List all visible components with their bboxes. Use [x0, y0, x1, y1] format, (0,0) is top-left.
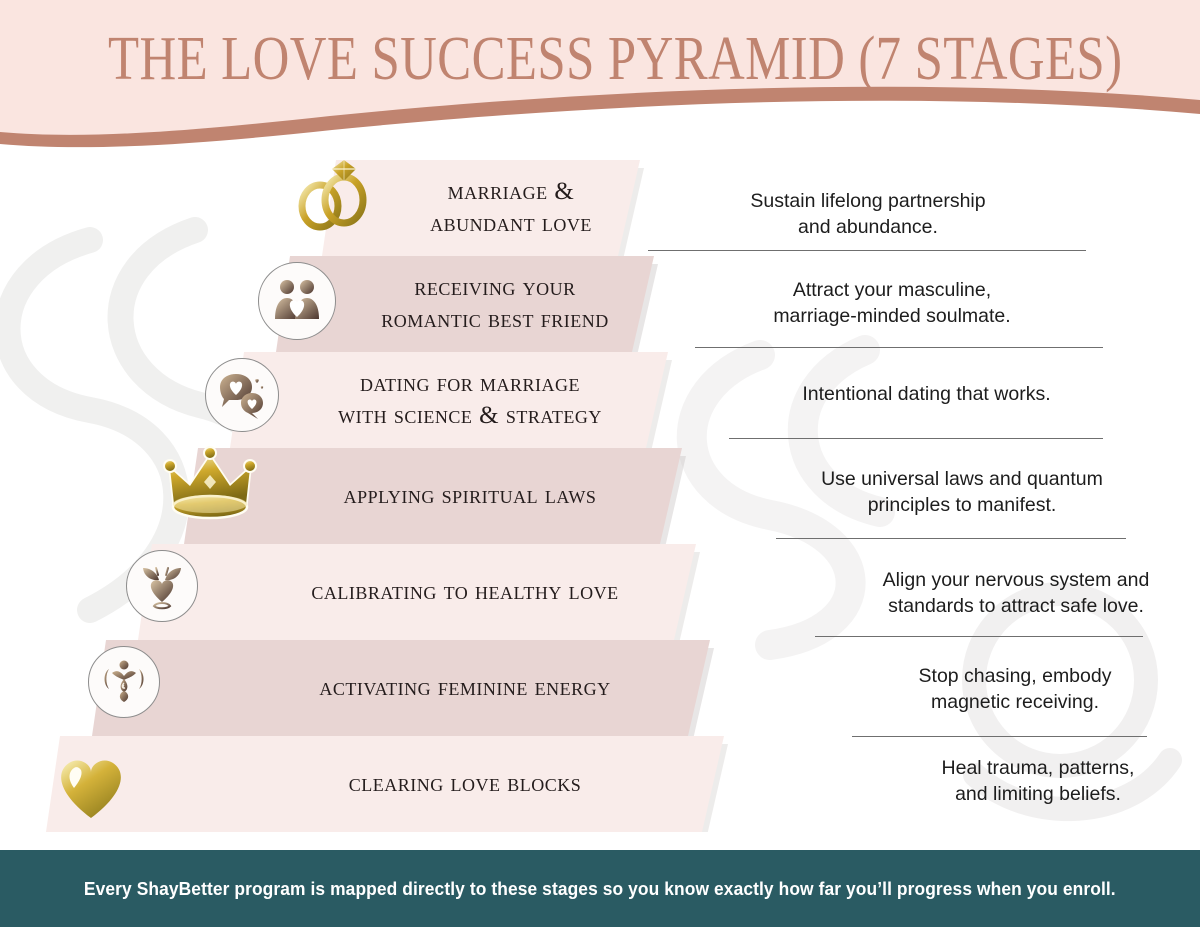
tier-3-description-line-1: Intentional dating that works. — [714, 381, 1139, 407]
tier-5-shape — [138, 544, 708, 640]
tier-2-description-line-1: Attract your masculine, — [672, 277, 1112, 303]
tier-4-description-line-2: principles to manifest. — [752, 492, 1172, 518]
couple-heart-icon — [271, 275, 323, 327]
pyramid-tier-3[interactable] — [230, 352, 680, 448]
tier-6-divider — [852, 736, 1147, 737]
pyramid-tier-5[interactable] — [138, 544, 708, 640]
tier-6-icon-badge[interactable] — [88, 646, 160, 718]
pyramid-tier-6[interactable] — [92, 640, 722, 736]
tier-4-divider — [776, 538, 1126, 539]
tier-2-icon-badge[interactable] — [258, 262, 336, 340]
tier-5-icon-badge[interactable] — [126, 550, 198, 622]
crown-icon-wrap — [160, 444, 260, 528]
chat-hearts-icon — [217, 370, 267, 420]
tier-5-description: Align your nervous system and standards … — [796, 567, 1200, 619]
tier-3-divider — [729, 438, 1103, 439]
tier-7-icon-badge[interactable] — [48, 742, 134, 824]
wedding-rings-icon — [294, 154, 378, 238]
tier-3-description: Intentional dating that works. — [714, 381, 1139, 407]
tier-4-description: Use universal laws and quantum principle… — [752, 466, 1172, 518]
winged-heart-icon — [139, 562, 185, 610]
goddess-moon-icon — [99, 657, 149, 707]
tier-7-description-line-1: Heal trauma, patterns, — [863, 755, 1200, 781]
winged-heart-icon-wrap — [126, 550, 198, 622]
tier-7-description: Heal trauma, patterns, and limiting beli… — [863, 755, 1200, 807]
tier-1-description-line-2: and abundance. — [648, 214, 1088, 240]
gold-heart-icon — [48, 742, 134, 824]
tier-4-shape — [184, 448, 694, 544]
goddess-moon-icon-wrap — [88, 646, 160, 718]
tier-3-icon-badge[interactable] — [205, 358, 279, 432]
tier-6-description-line-2: magnetic receiving. — [840, 689, 1190, 715]
couple-heart-icon-wrap — [258, 262, 336, 340]
tier-2-description-line-2: marriage-minded soulmate. — [672, 303, 1112, 329]
pyramid-tier-7[interactable] — [46, 736, 736, 832]
tier-6-description-line-1: Stop chasing, embody — [840, 663, 1190, 689]
tier-1-icon-badge[interactable] — [294, 154, 378, 238]
page-title: THE LOVE SUCCESS PYRAMID (7 STAGES) — [108, 26, 1092, 92]
chat-hearts-icon-wrap — [205, 358, 279, 432]
tier-2-divider — [695, 347, 1103, 348]
tier-2-description: Attract your masculine, marriage-minded … — [672, 277, 1112, 329]
crown-icon — [160, 444, 260, 528]
tier-6-description: Stop chasing, embody magnetic receiving. — [840, 663, 1190, 715]
tier-5-description-line-1: Align your nervous system and — [796, 567, 1200, 593]
tier-7-description-line-2: and limiting beliefs. — [863, 781, 1200, 807]
tier-4-description-line-1: Use universal laws and quantum — [752, 466, 1172, 492]
pyramid-tier-4[interactable] — [184, 448, 694, 544]
gold-heart-icon-wrap — [48, 742, 134, 824]
tier-5-divider — [815, 636, 1143, 637]
tier-6-shape — [92, 640, 722, 736]
tier-1-description: Sustain lifelong partnership and abundan… — [648, 188, 1088, 240]
header: THE LOVE SUCCESS PYRAMID (7 STAGES) — [0, 0, 1200, 150]
wedding-rings-icon-wrap — [294, 154, 378, 238]
tier-3-shape — [230, 352, 680, 448]
tier-5-description-line-2: standards to attract safe love. — [796, 593, 1200, 619]
footer-banner: Every ShayBetter program is mapped direc… — [0, 850, 1200, 927]
tier-7-shape — [46, 736, 736, 832]
tier-1-description-line-1: Sustain lifelong partnership — [648, 188, 1088, 214]
tier-4-icon-badge[interactable] — [160, 444, 260, 528]
tier-1-divider — [648, 250, 1086, 251]
footer-text: Every ShayBetter program is mapped direc… — [84, 878, 1116, 900]
infographic-canvas: THE LOVE SUCCESS PYRAMID (7 STAGES) Marr… — [0, 0, 1200, 927]
